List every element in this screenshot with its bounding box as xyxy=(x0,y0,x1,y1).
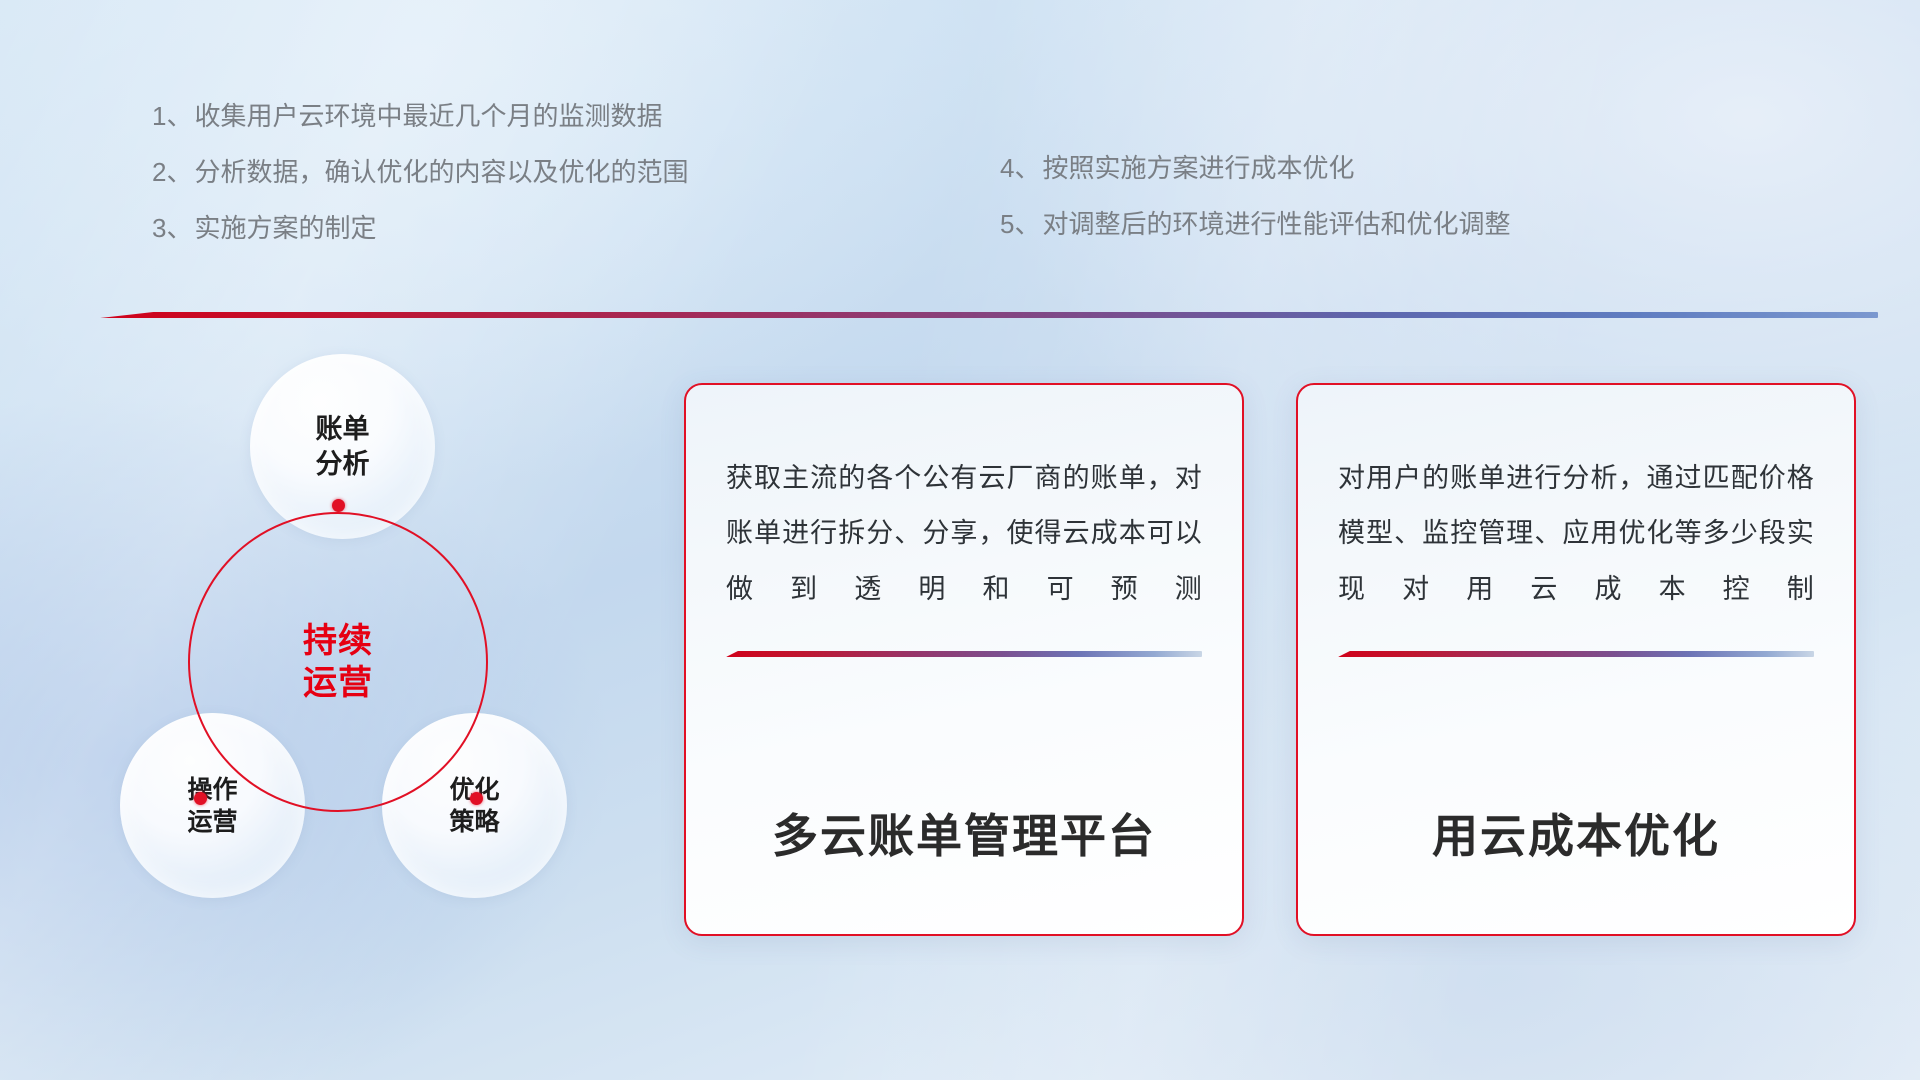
list-item: 2、 分析数据，确认优化的内容以及优化的范围 xyxy=(152,159,688,185)
list-item-label: 实施方案的制定 xyxy=(194,215,376,241)
list-item: 5、 对调整后的环境进行性能评估和优化调整 xyxy=(1000,211,1510,237)
card-divider xyxy=(1338,651,1814,657)
card-title: 用云成本优化 xyxy=(1338,800,1814,866)
list-item-number: 1、 xyxy=(152,103,192,129)
feature-card-cloud-cost-optimization[interactable]: 对用户的账单进行分析，通过匹配价格模型、监控管理、应用优化等多少段实现对用云成本… xyxy=(1296,383,1856,936)
diagram-node-dot-left xyxy=(194,792,207,805)
center-label-line1: 持续 xyxy=(303,620,373,662)
list-item-label: 按照实施方案进行成本优化 xyxy=(1042,155,1354,181)
list-item-number: 5、 xyxy=(1000,211,1040,237)
diagram-node-dot-top xyxy=(332,499,345,512)
list-item-label: 收集用户云环境中最近几个月的监测数据 xyxy=(194,103,662,129)
list-item: 4、 按照实施方案进行成本优化 xyxy=(1000,155,1510,181)
bubble-label-line1: 账单 xyxy=(316,412,370,447)
section-divider xyxy=(100,312,1878,318)
slide-canvas: 1、 收集用户云环境中最近几个月的监测数据 2、 分析数据，确认优化的内容以及优… xyxy=(0,0,1920,1080)
card-body-text: 对用户的账单进行分析，通过匹配价格模型、监控管理、应用优化等多少段实现对用云成本… xyxy=(1338,451,1814,617)
bubble-label-line2: 分析 xyxy=(316,447,370,482)
list-item-label: 对调整后的环境进行性能评估和优化调整 xyxy=(1042,211,1510,237)
continuous-operation-diagram: 账单 分析 操作 运营 优化 策略 持续 运营 xyxy=(100,350,660,950)
feature-card-multicloud-billing[interactable]: 获取主流的各个公有云厂商的账单，对账单进行拆分、分享，使得云成本可以做到透明和可… xyxy=(684,383,1244,936)
diagram-center-label: 持续 运营 xyxy=(188,512,488,812)
card-body-text: 获取主流的各个公有云厂商的账单，对账单进行拆分、分享，使得云成本可以做到透明和可… xyxy=(726,451,1202,617)
card-divider xyxy=(726,651,1202,657)
list-item-label: 分析数据，确认优化的内容以及优化的范围 xyxy=(194,159,688,185)
list-item-number: 2、 xyxy=(152,159,192,185)
steps-list-right: 4、 按照实施方案进行成本优化 5、 对调整后的环境进行性能评估和优化调整 xyxy=(1000,155,1510,237)
diagram-node-dot-right xyxy=(470,792,483,805)
card-title: 多云账单管理平台 xyxy=(726,800,1202,866)
list-item: 1、 收集用户云环境中最近几个月的监测数据 xyxy=(152,103,688,129)
center-label-line2: 运营 xyxy=(303,662,373,704)
list-item-number: 4、 xyxy=(1000,155,1040,181)
list-item-number: 3、 xyxy=(152,215,192,241)
steps-list-left: 1、 收集用户云环境中最近几个月的监测数据 2、 分析数据，确认优化的内容以及优… xyxy=(152,103,688,241)
list-item: 3、 实施方案的制定 xyxy=(152,215,688,241)
